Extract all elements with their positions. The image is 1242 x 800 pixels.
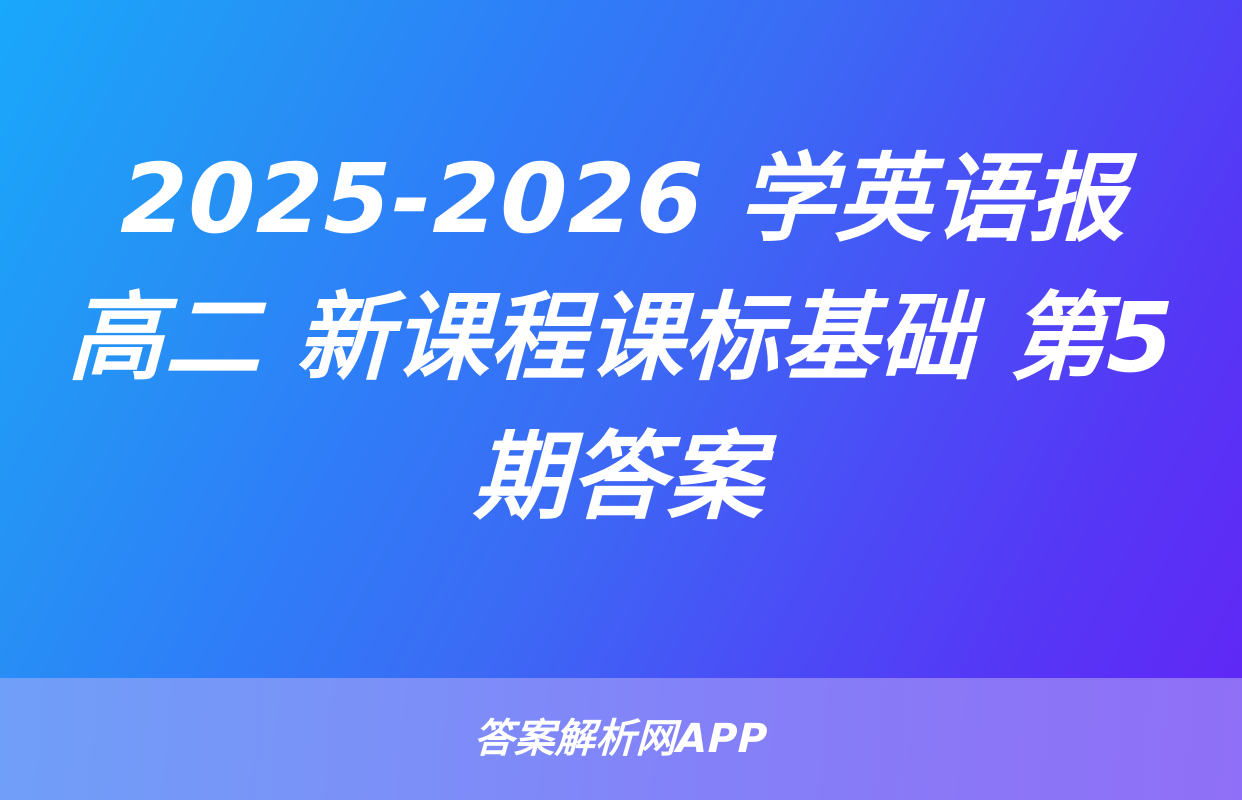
app-brand-label: 答案解析网APP — [474, 719, 769, 759]
footer-brand-bar: 答案解析网APP — [0, 678, 1242, 800]
hero-banner: 2025-2026 学英语报 高二 新课程课标基础 第5期答案 — [0, 0, 1242, 678]
poster-root: 2025-2026 学英语报 高二 新课程课标基础 第5期答案 答案解析网APP — [0, 0, 1242, 800]
page-title: 2025-2026 学英语报 高二 新课程课标基础 第5期答案 — [54, 130, 1187, 548]
